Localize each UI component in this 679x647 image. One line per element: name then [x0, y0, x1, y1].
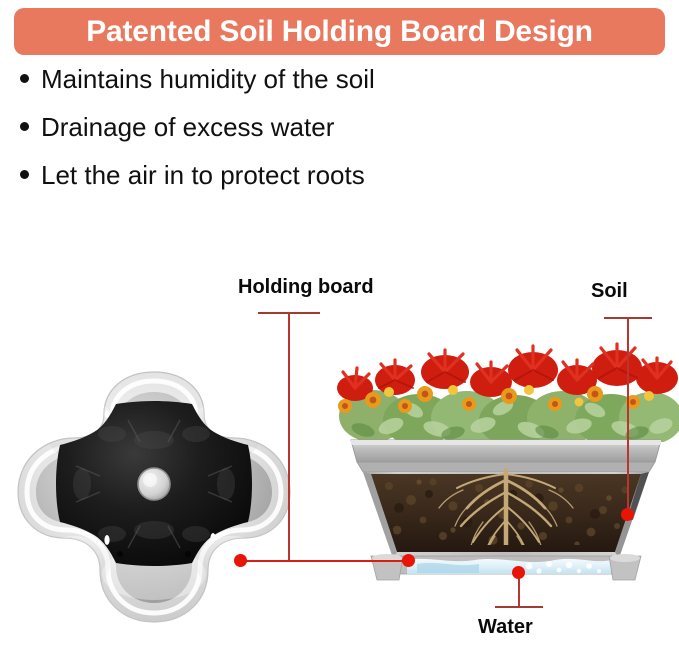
- holding-board-product-image: [8, 368, 300, 630]
- leader-line-board-to-pot: [241, 560, 413, 562]
- feature-text: Maintains humidity of the soil: [41, 66, 375, 92]
- bullet-dot-icon: [20, 74, 29, 83]
- callout-label-water: Water: [478, 617, 533, 637]
- feature-list: Maintains humidity of the soil Drainage …: [20, 66, 620, 210]
- holding-board-illustration: [8, 368, 300, 630]
- marker-dot-pot-board: [402, 554, 415, 567]
- list-item: Drainage of excess water: [20, 114, 620, 162]
- marker-dot-holding-board: [234, 554, 247, 567]
- callout-label-soil: Soil: [591, 281, 628, 301]
- list-item: Let the air in to protect roots: [20, 162, 620, 210]
- header-banner: Patented Soil Holding Board Design: [14, 8, 665, 55]
- leader-line-holding-board: [288, 312, 290, 560]
- callout-label-holding-board: Holding board: [238, 277, 374, 297]
- list-item: Maintains humidity of the soil: [20, 66, 620, 114]
- leader-bar-water: [495, 606, 543, 608]
- foot-right-top: [610, 554, 640, 562]
- bullet-dot-icon: [20, 122, 29, 131]
- bullet-dot-icon: [20, 170, 29, 179]
- page-title: Patented Soil Holding Board Design: [86, 17, 593, 47]
- leader-line-soil: [627, 317, 629, 515]
- marker-dot-soil: [621, 508, 634, 521]
- drain-hole-highlight: [143, 473, 157, 487]
- feature-text: Let the air in to protect roots: [41, 162, 365, 188]
- feature-text: Drainage of excess water: [41, 114, 334, 140]
- board-vent-hole: [117, 551, 123, 557]
- rim-top-highlight: [351, 440, 661, 445]
- marker-dot-water: [512, 566, 525, 579]
- board-vent-hole: [185, 551, 191, 557]
- infographic-page: Patented Soil Holding Board Design Maint…: [0, 0, 679, 647]
